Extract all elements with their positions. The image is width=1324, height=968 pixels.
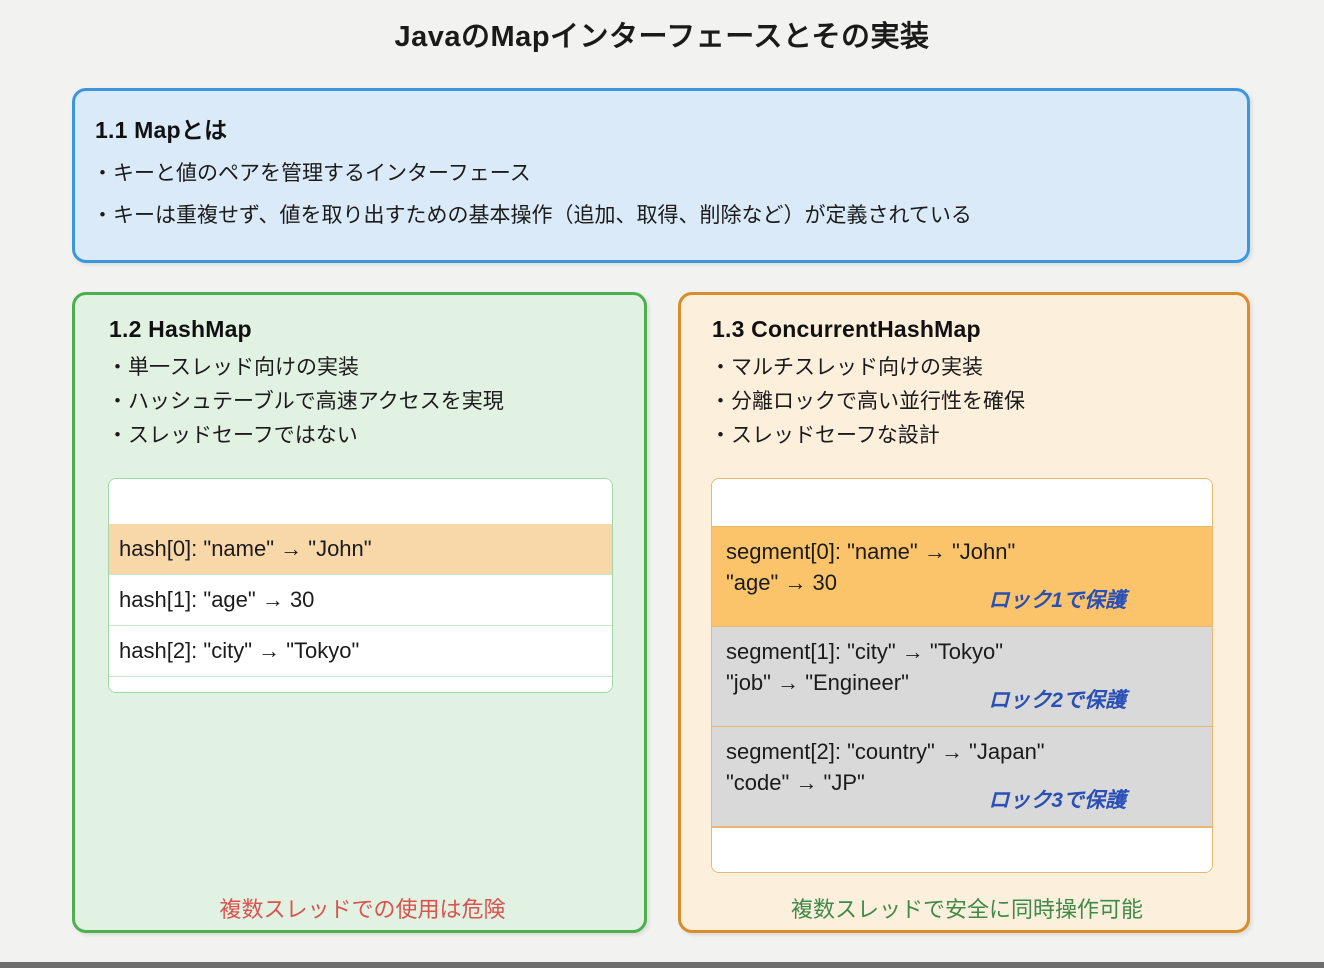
segment-row-line1: segment[2]: "country" → "Japan" — [726, 736, 1212, 767]
concurrenthashmap-bullet-1: ・分離ロックで高い並行性を確保 — [710, 387, 1025, 417]
section-map-card: 1.1 Mapとは ・キーと値のペアを管理するインターフェース ・キーは重複せず… — [72, 88, 1250, 263]
segment-lock-label: ロック3で保護 — [988, 784, 1126, 814]
concurrenthashmap-bullet-0: ・マルチスレッド向けの実装 — [710, 353, 983, 383]
map-bullet-0: ・キーと値のペアを管理するインターフェース — [92, 159, 531, 189]
page-title: JavaのMapインターフェースとその実装 — [0, 13, 1324, 55]
hash-table-top-pad — [109, 479, 612, 524]
segment-row: segment[1]: "city" → "Tokyo" "job" → "En… — [712, 627, 1212, 727]
map-bullet-1: ・キーは重複せず、値を取り出すための基本操作（追加、取得、削除など）が定義されて… — [92, 201, 972, 231]
section-concurrenthashmap-heading: 1.3 ConcurrentHashMap — [712, 316, 981, 343]
section-hashmap-heading: 1.2 HashMap — [109, 316, 252, 343]
section-map-heading: 1.1 Mapとは — [95, 111, 227, 145]
bottom-strip — [0, 962, 1324, 968]
section-hashmap-card: 1.2 HashMap ・単一スレッド向けの実装 ・ハッシュテーブルで高速アクセ… — [72, 292, 647, 933]
segment-row-line1: segment[1]: "city" → "Tokyo" — [726, 636, 1212, 667]
segment-row-line2: "job" → "Engineer" — [726, 667, 1212, 698]
segment-row: segment[0]: "name" → "John" "age" → 30 ロ… — [712, 527, 1212, 627]
segment-row-line2: "code" → "JP" — [726, 767, 1212, 798]
concurrenthashmap-bullet-2: ・スレッドセーフな設計 — [710, 421, 940, 451]
hashmap-bullet-1: ・ハッシュテーブルで高速アクセスを実現 — [107, 387, 504, 417]
table-row: hash[3]: null — [109, 677, 612, 693]
segment-table-bottom-pad — [712, 827, 1212, 873]
segment-row-line2: "age" → 30 — [726, 567, 1212, 598]
hash-table: hash[0]: "name" → "John" hash[1]: "age" … — [108, 478, 613, 693]
segment-row-line1: segment[0]: "name" → "John" — [726, 536, 1212, 567]
segment-table: segment[0]: "name" → "John" "age" → 30 ロ… — [711, 478, 1213, 873]
diagram-canvas: JavaのMapインターフェースとその実装 1.1 Mapとは ・キーと値のペア… — [0, 0, 1324, 968]
table-row: hash[1]: "age" → 30 — [109, 575, 612, 626]
section-concurrenthashmap-card: 1.3 ConcurrentHashMap ・マルチスレッド向けの実装 ・分離ロ… — [678, 292, 1250, 933]
segment-lock-label: ロック1で保護 — [988, 584, 1126, 614]
segment-row: segment[2]: "country" → "Japan" "code" →… — [712, 727, 1212, 827]
segment-table-top-pad — [712, 479, 1212, 527]
table-row: hash[2]: "city" → "Tokyo" — [109, 626, 612, 677]
hashmap-caption: 複数スレッドでの使用は危険 — [75, 892, 650, 924]
segment-lock-label: ロック2で保護 — [988, 684, 1126, 714]
hashmap-bullet-0: ・単一スレッド向けの実装 — [107, 353, 359, 383]
hashmap-bullet-2: ・スレッドセーフではない — [107, 421, 358, 451]
concurrenthashmap-caption: 複数スレッドで安全に同時操作可能 — [681, 892, 1253, 924]
table-row: hash[0]: "name" → "John" — [109, 524, 612, 575]
